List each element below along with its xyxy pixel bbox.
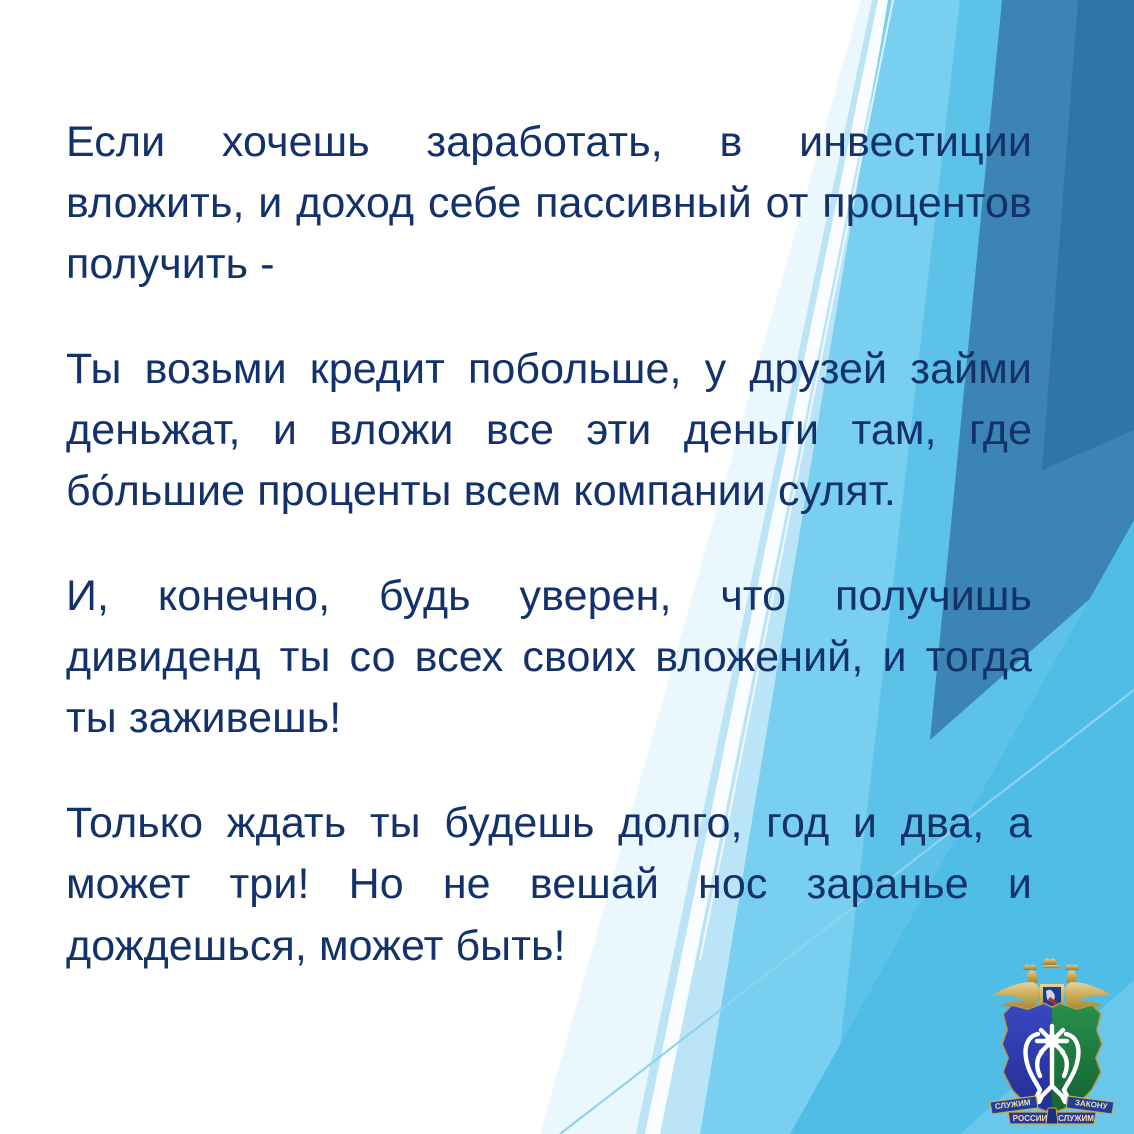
motto-bottom-left: РОССИИ [1013, 1114, 1048, 1123]
paragraph-4: Только ждать ты будешь долго, год и два,… [66, 793, 1032, 976]
bg-band-steel-dark [1042, 0, 1134, 470]
motto-bottom-right: СЛУЖИМ [1058, 1114, 1094, 1123]
paragraph-1: Если хочешь заработать, в инвестиции вло… [66, 112, 1032, 295]
poem-text-block: Если хочешь заработать, в инвестиции вло… [66, 112, 1032, 977]
slide-canvas: Если хочешь заработать, в инвестиции вло… [0, 0, 1134, 1134]
mvd-emblem-icon: СЛУЖИМ ЗАКОНУ РОССИИ СЛУЖИМ [982, 956, 1122, 1128]
paragraph-3: И, конечно, будь уверен, что получишь ди… [66, 566, 1032, 749]
paragraph-2: Ты возьми кредит побольше, у друзей займ… [66, 339, 1032, 522]
mvd-emblem: СЛУЖИМ ЗАКОНУ РОССИИ СЛУЖИМ [982, 956, 1122, 1128]
